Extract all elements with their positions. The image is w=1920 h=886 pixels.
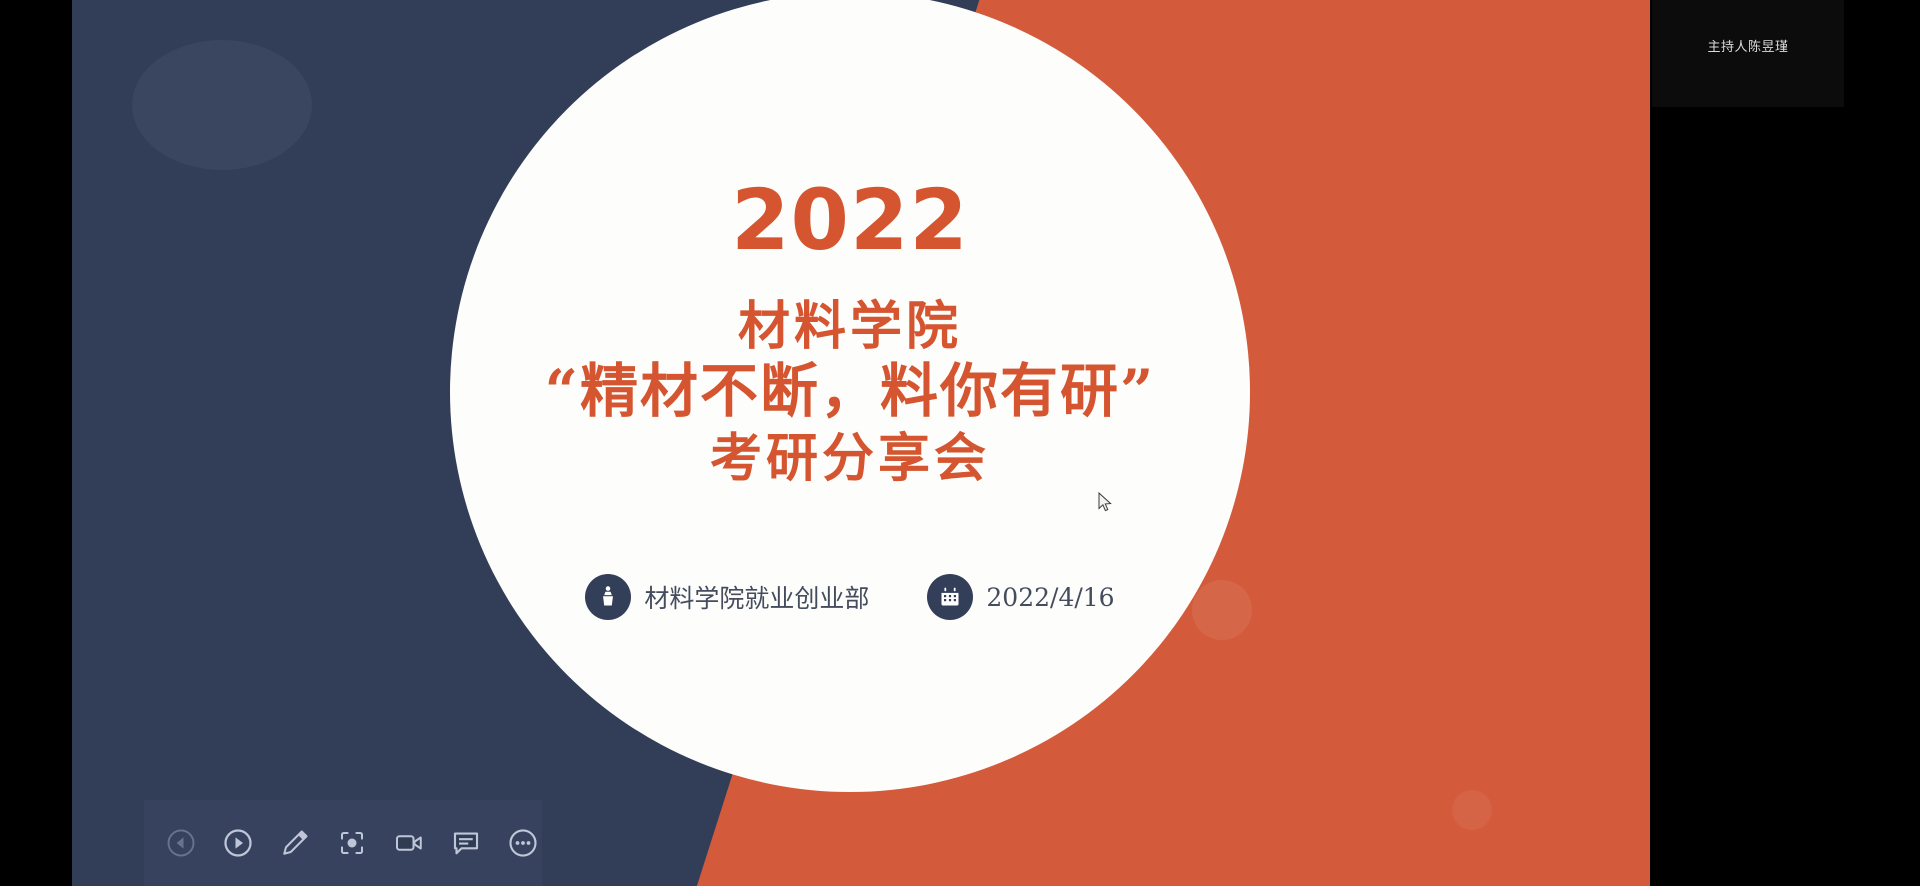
- more-options-button[interactable]: [505, 822, 542, 864]
- video-camera-icon: [394, 828, 424, 858]
- slide-organizer-label: 材料学院就业创业部: [644, 579, 869, 615]
- screen-root: 2022 材料学院 “精材不断，料你有研” 考研分享会 材料学院就业创业部: [0, 0, 1920, 886]
- slide-date: 2022/4/16: [927, 574, 1114, 620]
- chat-bubble-icon: [451, 828, 481, 858]
- laser-focus-icon: [337, 828, 367, 858]
- presenter-toolbar[interactable]: [144, 800, 542, 886]
- participant-name-label: 主持人陈昱瑾: [1652, 36, 1844, 55]
- play-circle-icon: [223, 828, 253, 858]
- slide-content: 2022 材料学院 “精材不断，料你有研” 考研分享会 材料学院就业创业部: [450, 0, 1250, 800]
- laser-pointer-button[interactable]: [333, 822, 370, 864]
- podium-speaker-icon: [585, 574, 631, 620]
- camera-button[interactable]: [391, 822, 428, 864]
- slide-title-line-3: 考研分享会: [450, 427, 1250, 490]
- shared-screen-slide[interactable]: 2022 材料学院 “精材不断，料你有研” 考研分享会 材料学院就业创业部: [72, 0, 1650, 886]
- annotate-button[interactable]: [276, 822, 313, 864]
- previous-slide-button[interactable]: [162, 822, 199, 864]
- participant-video-tile[interactable]: 主持人陈昱瑾: [1652, 0, 1844, 107]
- slide-title-block: 材料学院 “精材不断，料你有研” 考研分享会: [450, 298, 1250, 490]
- slide-organizer: 材料学院就业创业部: [585, 574, 869, 620]
- calendar-icon: [927, 574, 973, 620]
- slide-date-label: 2022/4/16: [986, 583, 1114, 612]
- slide-title-line-1: 材料学院: [450, 298, 1250, 356]
- chat-button[interactable]: [448, 822, 485, 864]
- next-slide-button[interactable]: [219, 822, 256, 864]
- slide-meta-row: 材料学院就业创业部: [450, 574, 1250, 620]
- ellipsis-circle-icon: [508, 828, 538, 858]
- pencil-icon: [280, 828, 310, 858]
- slide-title-line-2: “精材不断，料你有研”: [450, 356, 1250, 427]
- chevron-left-circle-icon: [166, 828, 196, 858]
- slide-year: 2022: [450, 178, 1250, 262]
